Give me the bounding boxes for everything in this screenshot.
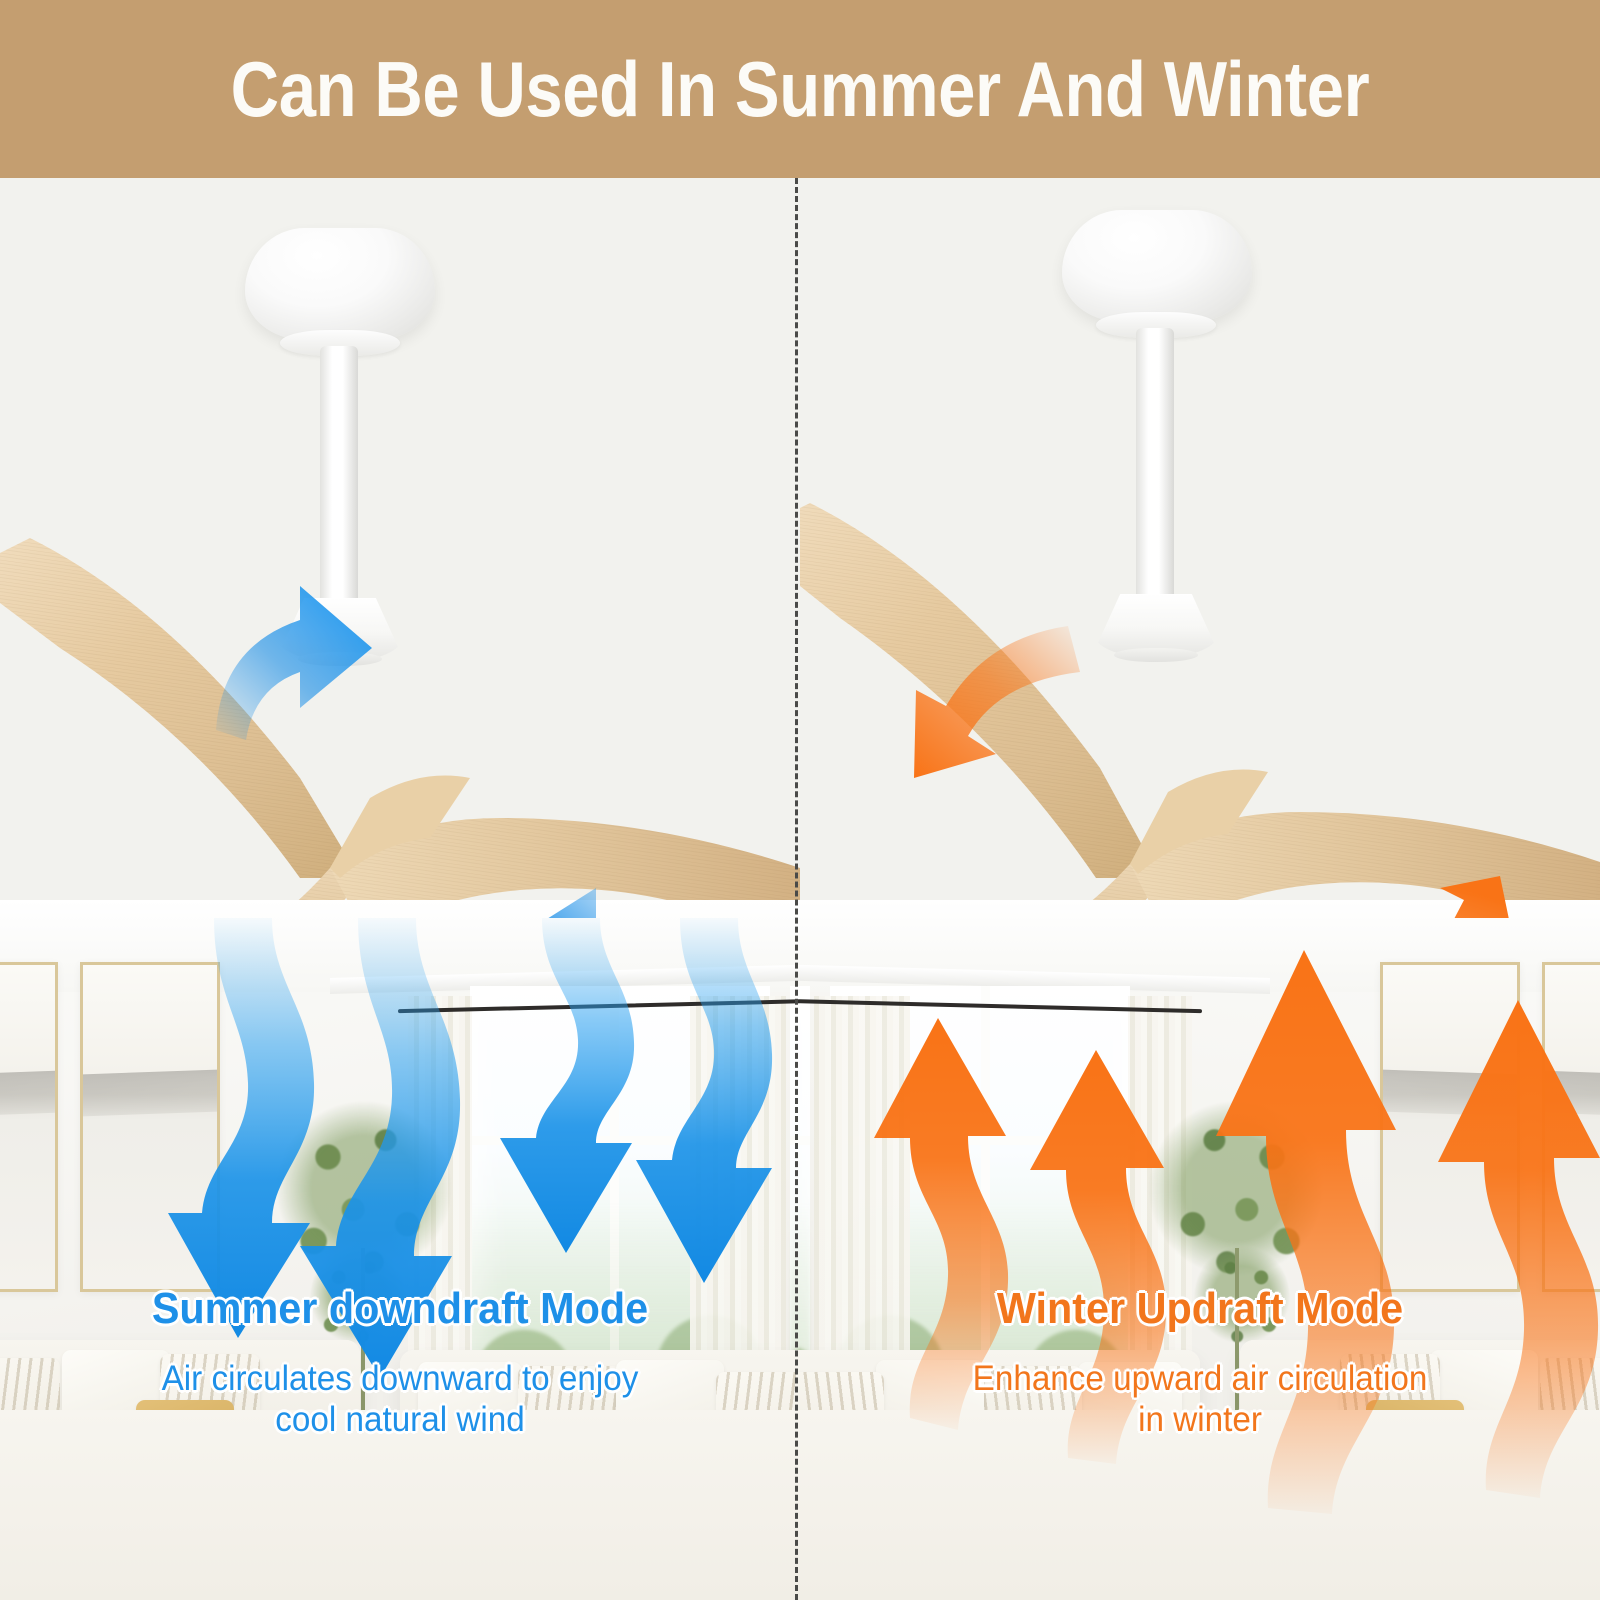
- room-scene-summer: [0, 900, 800, 1600]
- wall-art: [80, 962, 220, 1292]
- area-rug: [0, 1410, 800, 1600]
- header-banner: Can Be Used In Summer And Winter: [0, 0, 1600, 178]
- arrow-up-orange-icon: [800, 178, 1600, 918]
- comparison-stage: Summer downdraft Mode Air circulates dow…: [0, 178, 1600, 1600]
- wall-art: [0, 962, 58, 1292]
- room-scene-winter: [800, 900, 1600, 1600]
- wall-art: [1542, 962, 1600, 1292]
- panel-divider: [795, 178, 798, 1600]
- panel-winter-mode: Winter Updraft Mode Enhance upward air c…: [800, 178, 1600, 1600]
- panel-summer-mode: Summer downdraft Mode Air circulates dow…: [0, 178, 800, 1600]
- fan-illustration-winter: [800, 178, 1600, 918]
- arrow-left-blue-icon: [0, 178, 800, 918]
- page-title: Can Be Used In Summer And Winter: [231, 44, 1370, 135]
- area-rug: [800, 1410, 1600, 1600]
- wall-art: [1380, 962, 1520, 1292]
- fan-illustration-summer: [0, 178, 800, 918]
